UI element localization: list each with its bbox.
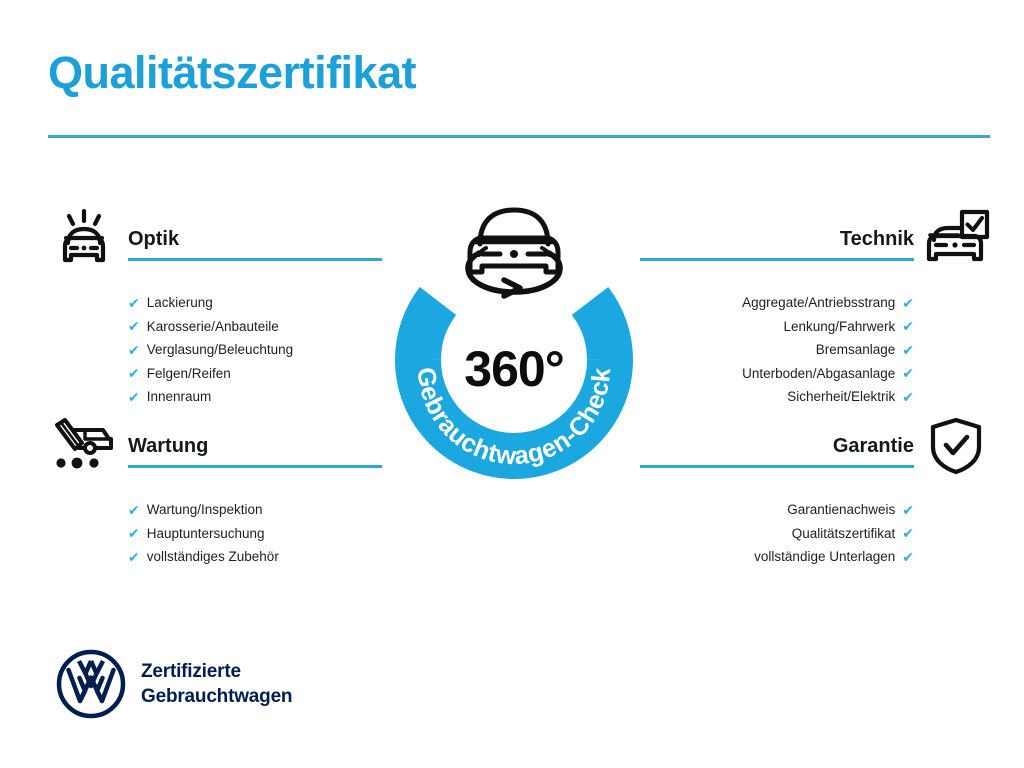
list-item: vollständige Unterlagen✔ (640, 545, 914, 569)
list-item-label: Aggregate/Antriebsstrang (742, 291, 895, 315)
badge-center-label: 360° (378, 340, 650, 398)
section-wartung-header: Wartung (48, 412, 384, 484)
section-wartung: Wartung ✔Wartung/Inspektion ✔Hauptunters… (48, 412, 384, 569)
section-wartung-title: Wartung (128, 436, 382, 457)
vw-logo-icon (55, 648, 127, 720)
section-technik-title: Technik (640, 229, 914, 250)
brand-text-line2: Gebrauchtwagen (141, 684, 292, 709)
check-icon: ✔ (902, 343, 914, 357)
section-wartung-divider (128, 465, 382, 468)
list-item-label: vollständige Unterlagen (754, 545, 895, 569)
list-item: Unterboden/Abgasanlage✔ (640, 362, 914, 386)
section-garantie-title-wrap: Garantie (640, 436, 914, 468)
list-item: Lenkung/Fahrwerk✔ (640, 315, 914, 339)
list-item: ✔Innenraum (128, 385, 384, 409)
section-garantie: Garantie Garantienachweis✔ Qualitätszert… (640, 412, 992, 569)
check-icon: ✔ (902, 366, 914, 380)
list-item: Garantienachweis✔ (640, 498, 914, 522)
check-icon: ✔ (128, 296, 140, 310)
check-icon: ✔ (128, 390, 140, 404)
section-technik-header: Technik (640, 205, 992, 277)
check-icon: ✔ (902, 503, 914, 517)
list-item: Aggregate/Antriebsstrang✔ (640, 291, 914, 315)
list-item: ✔Hauptuntersuchung (128, 522, 384, 546)
check-icon: ✔ (128, 503, 140, 517)
section-technik-divider (640, 258, 914, 261)
brand-text-line1: Zertifizierte (141, 659, 292, 684)
section-optik-list: ✔Lackierung ✔Karosserie/Anbauteile ✔Verg… (48, 291, 384, 409)
list-item-label: Wartung/Inspektion (147, 498, 263, 522)
car-checkbox-icon (920, 205, 992, 273)
car-shine-icon (48, 205, 120, 273)
list-item-label: Lenkung/Fahrwerk (783, 315, 895, 339)
section-optik-title: Optik (128, 229, 382, 250)
service-tool-car-icon (48, 412, 120, 480)
list-item-label: Unterboden/Abgasanlage (742, 362, 895, 386)
list-item-label: Innenraum (147, 385, 212, 409)
check-icon: ✔ (128, 319, 140, 333)
list-item-label: Sicherheit/Elektrik (787, 385, 895, 409)
section-wartung-list: ✔Wartung/Inspektion ✔Hauptuntersuchung ✔… (48, 498, 384, 569)
list-item: Qualitätszertifikat✔ (640, 522, 914, 546)
list-item: Bremsanlage✔ (640, 338, 914, 362)
check-icon: ✔ (128, 366, 140, 380)
list-item-label: vollständiges Zubehör (147, 545, 279, 569)
section-garantie-title: Garantie (640, 436, 914, 457)
section-technik: Technik Aggregate/Antriebsstrang✔ Lenkun… (640, 205, 992, 409)
check-icon: ✔ (902, 390, 914, 404)
section-garantie-header: Garantie (640, 412, 992, 484)
shield-check-icon (920, 412, 992, 480)
list-item: Sicherheit/Elektrik✔ (640, 385, 914, 409)
section-optik-header: Optik (48, 205, 384, 277)
list-item: ✔vollständiges Zubehör (128, 545, 384, 569)
list-item-label: Bremsanlage (816, 338, 896, 362)
section-optik: Optik ✔Lackierung ✔Karosserie/Anbauteile… (48, 205, 384, 409)
section-technik-title-wrap: Technik (640, 229, 914, 261)
check-icon: ✔ (902, 296, 914, 310)
title-divider (48, 135, 990, 138)
section-garantie-list: Garantienachweis✔ Qualitätszertifikat✔ v… (640, 498, 992, 569)
check-icon: ✔ (902, 550, 914, 564)
list-item: ✔Felgen/Reifen (128, 362, 384, 386)
section-wartung-title-wrap: Wartung (128, 436, 382, 468)
list-item-label: Lackierung (147, 291, 213, 315)
car-rotate-icon (448, 196, 580, 304)
list-item-label: Hauptuntersuchung (147, 522, 265, 546)
check-icon: ✔ (902, 526, 914, 540)
list-item: ✔Lackierung (128, 291, 384, 315)
list-item: ✔Karosserie/Anbauteile (128, 315, 384, 339)
certificate-page: Qualitätszertifikat Optik (0, 0, 1024, 768)
list-item-label: Felgen/Reifen (147, 362, 231, 386)
section-optik-title-wrap: Optik (128, 229, 382, 261)
check-icon: ✔ (128, 343, 140, 357)
brand-text: Zertifizierte Gebrauchtwagen (141, 659, 292, 709)
check-icon: ✔ (128, 550, 140, 564)
page-title: Qualitätszertifikat (48, 48, 416, 98)
section-optik-divider (128, 258, 382, 261)
brand-lockup: Zertifizierte Gebrauchtwagen (55, 648, 292, 720)
section-garantie-divider (640, 465, 914, 468)
section-technik-list: Aggregate/Antriebsstrang✔ Lenkung/Fahrwe… (640, 291, 992, 409)
list-item-label: Qualitätszertifikat (792, 522, 896, 546)
list-item: ✔Verglasung/Beleuchtung (128, 338, 384, 362)
check-icon: ✔ (128, 526, 140, 540)
list-item-label: Garantienachweis (787, 498, 895, 522)
list-item-label: Verglasung/Beleuchtung (147, 338, 293, 362)
list-item: ✔Wartung/Inspektion (128, 498, 384, 522)
list-item-label: Karosserie/Anbauteile (147, 315, 279, 339)
check-icon: ✔ (902, 319, 914, 333)
